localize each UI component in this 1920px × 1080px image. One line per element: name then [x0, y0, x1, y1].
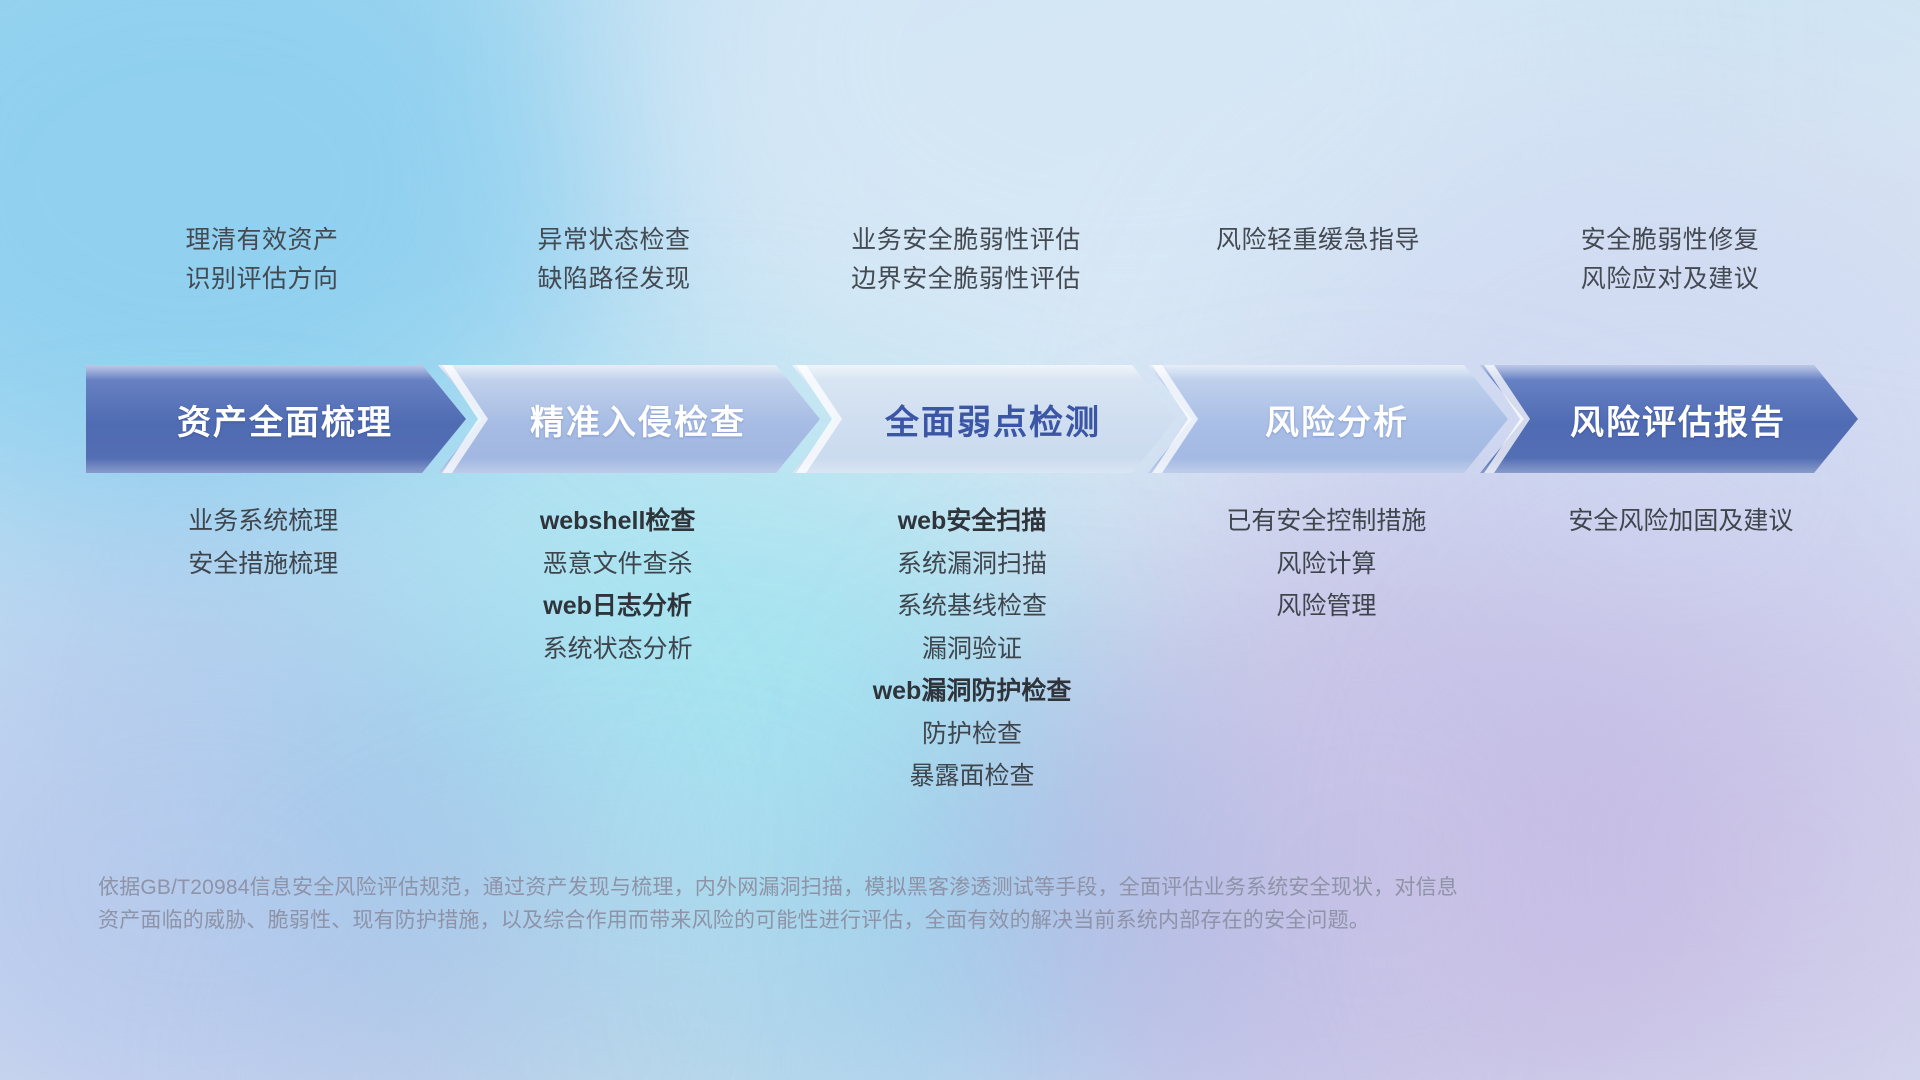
chevron-label: 风险分析 — [1247, 395, 1409, 444]
top-notes-weakness-detection: 业务安全脆弱性评估 边界安全脆弱性评估 — [790, 228, 1142, 338]
chevron-label: 风险评估报告 — [1552, 395, 1786, 444]
detail-item: 防护检查 — [922, 721, 1022, 749]
top-note: 识别评估方向 — [185, 267, 338, 292]
top-notes-asset-inventory: 理清有效资产 识别评估方向 — [86, 228, 438, 338]
chevron-weakness-detection[interactable]: 全面弱点检测 — [792, 365, 1176, 473]
chevron-label: 全面弱点检测 — [867, 395, 1101, 444]
detail-item: 系统漏洞扫描 — [897, 551, 1047, 579]
detail-item: 系统基线检查 — [897, 593, 1047, 621]
detail-item: web漏洞防护检查 — [873, 678, 1072, 706]
chevron-label: 资产全面梳理 — [159, 395, 393, 444]
detail-item: 风险计算 — [1276, 551, 1376, 579]
slide-canvas: 理清有效资产 识别评估方向 异常状态检查 缺陷路径发现 业务安全脆弱性评估 边界… — [0, 0, 1920, 1080]
top-notes-risk-analysis: 风险轻重缓急指导 — [1142, 228, 1494, 338]
details-intrusion-check: webshell检查 恶意文件查杀 web日志分析 系统状态分析 — [440, 508, 794, 663]
detail-item: web安全扫描 — [898, 508, 1047, 536]
stage-top-notes-row: 理清有效资产 识别评估方向 异常状态检查 缺陷路径发现 业务安全脆弱性评估 边界… — [86, 228, 1846, 338]
top-note: 缺陷路径发现 — [537, 267, 690, 292]
top-notes-assessment-report: 安全脆弱性修复 风险应对及建议 — [1494, 228, 1846, 338]
detail-item: 业务系统梳理 — [188, 508, 338, 536]
footer-description: 依据GB/T20984信息安全风险评估规范，通过资产发现与梳理，内外网漏洞扫描，… — [98, 872, 1598, 937]
chevron-intrusion-check[interactable]: 精准入侵检查 — [438, 365, 820, 473]
footer-line-2: 资产面临的威胁、脆弱性、现有防护措施，以及综合作用而带来风险的可能性进行评估，全… — [98, 905, 1598, 938]
details-asset-inventory: 业务系统梳理 安全措施梳理 — [86, 508, 440, 578]
detail-item: 已有安全控制措施 — [1226, 508, 1426, 536]
details-assessment-report: 安全风险加固及建议 — [1504, 508, 1858, 536]
top-note: 业务安全脆弱性评估 — [851, 228, 1081, 253]
detail-item: 风险管理 — [1276, 593, 1376, 621]
details-weakness-detection: web安全扫描 系统漏洞扫描 系统基线检查 漏洞验证 web漏洞防护检查 防护检… — [795, 508, 1149, 791]
detail-item: 安全措施梳理 — [188, 551, 338, 579]
top-note: 安全脆弱性修复 — [1581, 228, 1760, 253]
process-chevron-band: 资产全面梳理 精准入侵检查 全面弱点检测 风险分析 风险评估报告 — [86, 365, 1858, 473]
detail-item: 安全风险加固及建议 — [1568, 508, 1793, 536]
chevron-risk-analysis[interactable]: 风险分析 — [1148, 365, 1508, 473]
chevron-label: 精准入侵检查 — [512, 395, 746, 444]
detail-item: 漏洞验证 — [922, 636, 1022, 664]
top-note: 边界安全脆弱性评估 — [851, 267, 1081, 292]
chevron-asset-inventory[interactable]: 资产全面梳理 — [86, 365, 466, 473]
detail-item: webshell检查 — [540, 508, 696, 536]
detail-item: web日志分析 — [543, 593, 692, 621]
detail-item: 系统状态分析 — [543, 636, 693, 664]
chevron-assessment-report[interactable]: 风险评估报告 — [1480, 365, 1858, 473]
detail-item: 暴露面检查 — [910, 763, 1035, 791]
footer-line-1: 依据GB/T20984信息安全风险评估规范，通过资产发现与梳理，内外网漏洞扫描，… — [98, 872, 1598, 905]
top-note: 理清有效资产 — [185, 228, 338, 253]
top-note: 异常状态检查 — [537, 228, 690, 253]
details-risk-analysis: 已有安全控制措施 风险计算 风险管理 — [1149, 508, 1503, 621]
stage-detail-row: 业务系统梳理 安全措施梳理 webshell检查 恶意文件查杀 web日志分析 … — [86, 508, 1858, 791]
top-note: 风险轻重缓急指导 — [1216, 228, 1420, 253]
detail-item: 恶意文件查杀 — [543, 551, 693, 579]
top-note: 风险应对及建议 — [1581, 267, 1760, 292]
top-notes-intrusion-check: 异常状态检查 缺陷路径发现 — [438, 228, 790, 338]
